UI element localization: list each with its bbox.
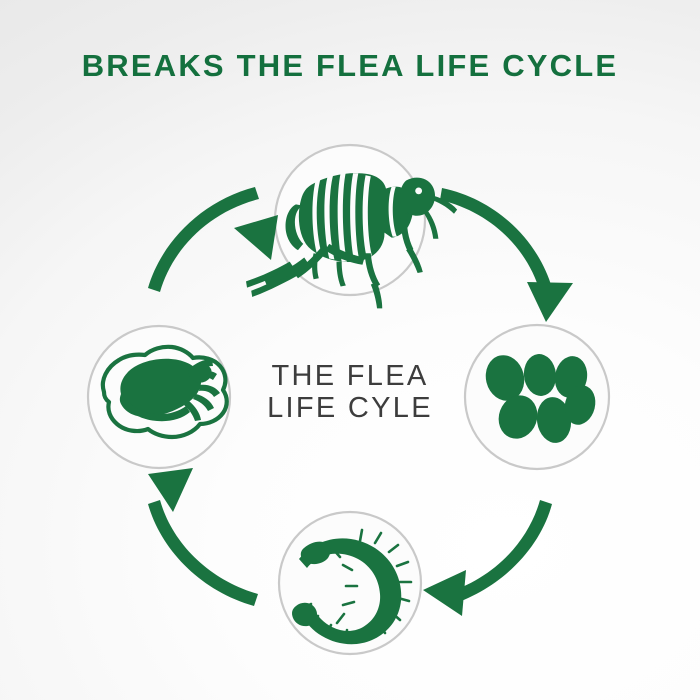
arrow-larva-to-pupa — [148, 468, 258, 606]
arrow-adult-to-eggs — [440, 188, 573, 322]
center-label-line-2: LIFE CYLE — [0, 392, 700, 425]
arrow-eggs-to-larva — [423, 500, 552, 616]
flea-life-cycle-infographic: BREAKS THE FLEA LIFE CYCLE — [0, 0, 700, 700]
life-cycle-diagram — [0, 0, 700, 700]
arrow-pupa-to-adult — [148, 187, 278, 292]
center-label-line-1: THE FLEA — [0, 360, 700, 393]
